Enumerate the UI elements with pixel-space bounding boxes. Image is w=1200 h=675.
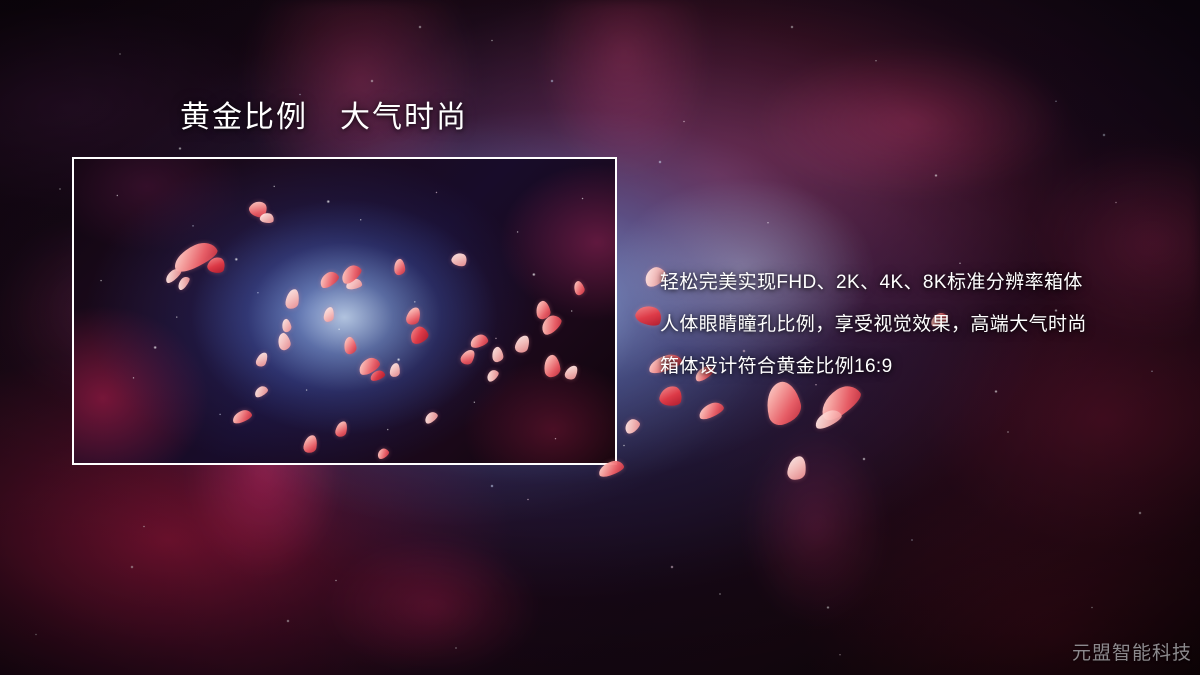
body-line: 人体眼睛瞳孔比例，享受视觉效果，高端大气时尚 (660, 304, 1180, 346)
preview-panel-content (74, 159, 615, 463)
preview-panel (72, 157, 617, 465)
petal (786, 455, 807, 481)
page-title: 黄金比例 大气时尚 (180, 100, 468, 136)
presentation-slide: 黄金比例 大气时尚 (0, 0, 1200, 675)
petal (697, 400, 726, 422)
petal (622, 416, 642, 435)
body-text-block: 轻松完美实现FHD、2K、4K、8K标准分辨率箱体 人体眼睛瞳孔比例，享受视觉效… (660, 262, 1180, 388)
body-line: 箱体设计符合黄金比例16:9 (660, 346, 1180, 388)
body-line: 轻松完美实现FHD、2K、4K、8K标准分辨率箱体 (660, 262, 1180, 304)
panel-starfield (74, 159, 615, 463)
watermark-label: 元盟智能科技 (1072, 638, 1192, 665)
